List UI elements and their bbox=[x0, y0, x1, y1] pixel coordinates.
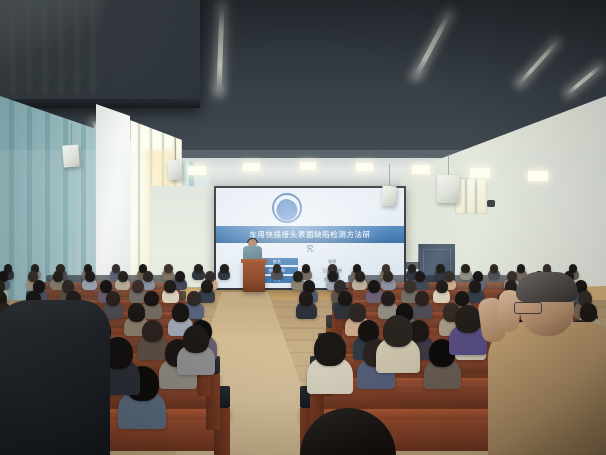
audience-person-head bbox=[106, 291, 120, 306]
lecture-hall-photo: 车用快插接头表面缺陷检测方法研 究 姓名 张明 指导教师 王建国教授 专业 机械… bbox=[0, 0, 606, 455]
speaker-hanger bbox=[175, 138, 176, 160]
tan-coat bbox=[488, 322, 606, 455]
audience-person-head bbox=[383, 315, 413, 347]
recessed-ceiling-light bbox=[356, 163, 373, 171]
slide-title-line1: 车用快插接头表面缺陷检测方法研 bbox=[249, 229, 371, 240]
audience-person-head bbox=[299, 291, 313, 306]
audience-person-head bbox=[355, 271, 365, 282]
audience-person-head bbox=[143, 271, 153, 282]
housing-mullion bbox=[76, 0, 78, 94]
wall-speaker bbox=[437, 175, 460, 204]
housing-mullion bbox=[28, 0, 30, 94]
audience-person-head bbox=[132, 280, 144, 293]
audience-person-head bbox=[293, 271, 303, 282]
audience-person-head bbox=[85, 271, 95, 282]
audience-person-head bbox=[490, 264, 498, 273]
audience-person-head bbox=[172, 303, 189, 321]
audience-person-head bbox=[517, 264, 525, 273]
audience-person-head bbox=[118, 271, 128, 282]
audience-person-head bbox=[436, 264, 444, 273]
security-camera-icon bbox=[487, 200, 495, 207]
audience-person-head bbox=[383, 271, 393, 282]
audience-person-head bbox=[144, 291, 158, 306]
audience-person-head bbox=[273, 264, 281, 273]
audience-person-head bbox=[415, 271, 425, 282]
window-mullion bbox=[465, 179, 467, 213]
housing-mullion bbox=[92, 0, 94, 94]
slide-title-band: 车用快插接头表面缺陷检测方法研 bbox=[216, 226, 404, 243]
audience-person-head bbox=[53, 271, 63, 282]
audience-person-head bbox=[187, 291, 201, 306]
ceiling-projector-housing bbox=[0, 0, 200, 108]
audience-person-head bbox=[368, 280, 380, 293]
audience-person-head bbox=[220, 264, 228, 273]
audience-person-head bbox=[302, 264, 310, 273]
podium bbox=[243, 262, 265, 292]
wall-speaker bbox=[62, 144, 79, 167]
recessed-ceiling-light bbox=[188, 166, 206, 175]
audience-person-head bbox=[164, 264, 172, 273]
audience-person-head bbox=[415, 291, 429, 306]
foreground-person-right bbox=[470, 276, 606, 455]
audience-person-head bbox=[408, 264, 416, 273]
audience-person-head bbox=[175, 271, 185, 282]
audience-person-head bbox=[455, 291, 469, 306]
housing-mullion bbox=[44, 0, 46, 94]
glasses-icon bbox=[514, 302, 542, 314]
audience-person-head bbox=[404, 280, 416, 293]
housing-mullion bbox=[12, 0, 14, 94]
audience-person-head bbox=[201, 280, 213, 293]
window-mullion bbox=[475, 179, 477, 213]
audience-person-head bbox=[381, 291, 395, 306]
wall-speaker bbox=[381, 186, 396, 207]
right-window bbox=[455, 178, 487, 214]
audience-person-head bbox=[444, 271, 454, 282]
recessed-ceiling-light bbox=[412, 165, 430, 174]
slide-table-row: 姓名 张明 bbox=[256, 258, 366, 265]
audience-person-head bbox=[338, 291, 352, 306]
recessed-ceiling-light bbox=[300, 162, 316, 170]
housing-glass-panel bbox=[0, 0, 104, 94]
audience-person-head bbox=[128, 303, 145, 321]
foreground-person-left bbox=[0, 300, 110, 455]
audience-person-head bbox=[142, 320, 163, 343]
audience-person-head bbox=[194, 264, 202, 273]
wall-speaker bbox=[167, 160, 182, 181]
housing-mullion bbox=[60, 0, 62, 94]
hair bbox=[516, 272, 578, 302]
audience-person-head bbox=[461, 264, 469, 273]
university-seal-icon bbox=[272, 193, 302, 223]
audience-person-head bbox=[349, 303, 366, 321]
audience-person-head bbox=[183, 325, 209, 353]
audience-person-head bbox=[436, 280, 448, 293]
speaker-hanger bbox=[71, 123, 72, 145]
audience-person-head bbox=[164, 280, 176, 293]
recessed-ceiling-light bbox=[528, 171, 548, 181]
speaker-hanger bbox=[389, 164, 390, 186]
recessed-ceiling-light bbox=[243, 163, 260, 171]
recessed-ceiling-light bbox=[470, 168, 490, 178]
audience-person-head bbox=[314, 332, 346, 366]
speaker-hanger bbox=[448, 153, 449, 175]
